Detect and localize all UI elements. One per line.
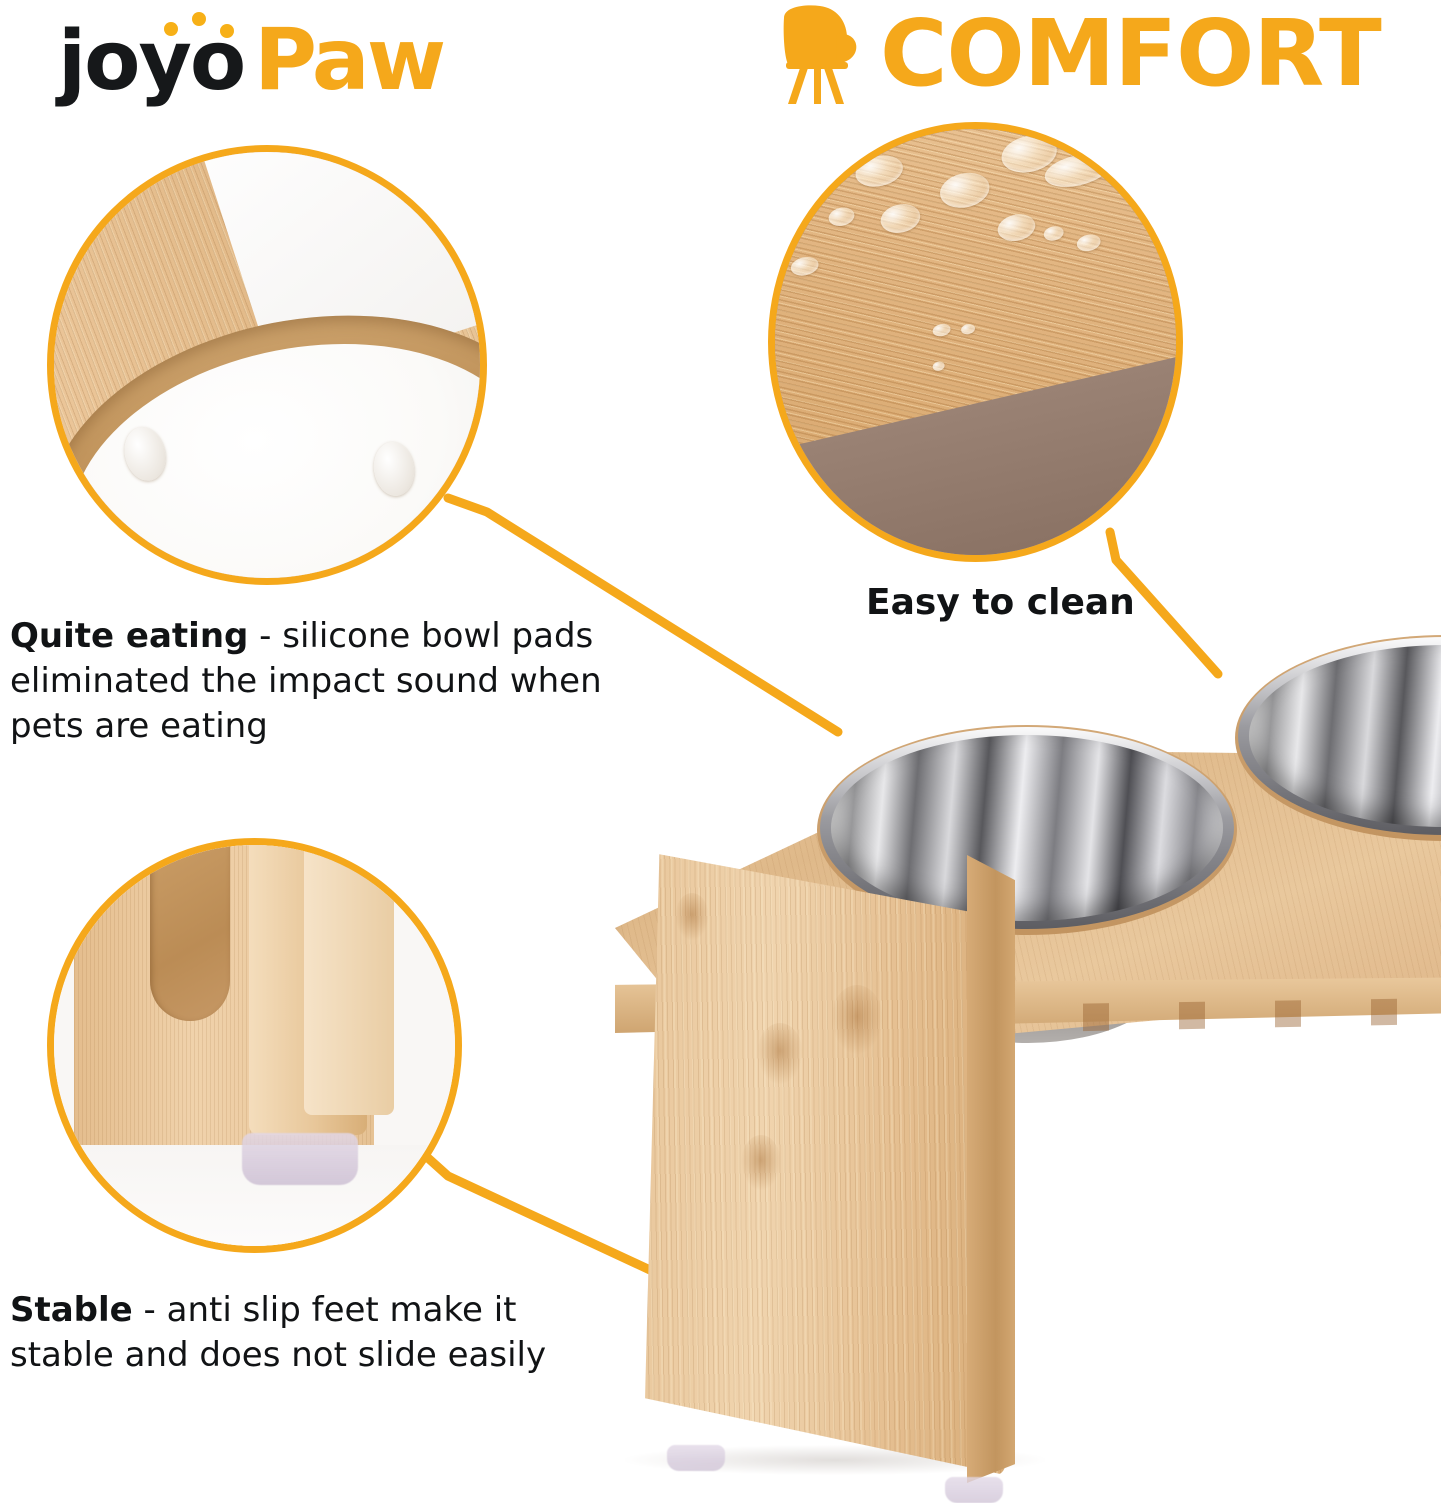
water-droplet-icon: [1151, 194, 1180, 217]
page-title: COMFORT: [880, 0, 1381, 108]
water-droplet-icon: [852, 151, 906, 191]
logo-text-joyo: joyo: [58, 14, 244, 109]
closeup-backdrop: [54, 845, 455, 1246]
callout-circle-quiet-eating: [47, 145, 487, 585]
bamboo-knot: [675, 893, 709, 941]
water-droplet-icon: [960, 323, 976, 336]
water-droplet-icon: [808, 179, 833, 200]
water-droplet-icon: [827, 205, 856, 228]
leg-notch-cutout: [150, 838, 230, 1021]
water-droplet-icon: [995, 211, 1038, 245]
anti-slip-foot-pad: [945, 1477, 1003, 1503]
closeup-backdrop: [775, 129, 1176, 555]
water-droplet-icon: [931, 322, 951, 338]
caption-stable: Stable - anti slip feet make it stable a…: [10, 1288, 630, 1378]
logo-text-paw: Paw: [254, 10, 443, 110]
callout-circle-easy-to-clean: [768, 122, 1183, 562]
caption-quiet-eating: Quite eating - silicone bowl pads elimin…: [10, 614, 610, 749]
water-droplet-icon: [1042, 224, 1065, 242]
water-droplet-icon: [1075, 232, 1102, 253]
brand-logo: joyo Paw: [58, 6, 428, 106]
callout-circle-anti-slip-foot: [47, 838, 462, 1253]
caption-stable-bold: Stable: [10, 1290, 133, 1330]
anti-slip-foot-pad: [667, 1445, 725, 1471]
water-droplet-icon: [932, 360, 946, 371]
bamboo-leg-panel: [645, 835, 1005, 1475]
bamboo-knot: [741, 1135, 781, 1191]
bamboo-knot: [757, 1023, 803, 1085]
water-droplet-icon: [937, 168, 993, 212]
armchair-icon: [774, 4, 870, 108]
header-title-group: COMFORT: [770, 0, 1370, 112]
bamboo-leg-edge: [967, 855, 1015, 1483]
water-droplet-icon: [878, 200, 923, 236]
stainless-steel-bowl: [831, 735, 1223, 921]
bamboo-leg-side: [304, 838, 394, 1115]
caption-quiet-eating-bold: Quite eating: [10, 616, 248, 656]
water-droplet-icon: [1113, 129, 1153, 168]
bamboo-backdrop: [54, 152, 480, 578]
bamboo-knot: [831, 985, 883, 1055]
anti-slip-foot-pad: [242, 1133, 358, 1185]
product-photo-elevated-pet-feeder: [615, 605, 1441, 1468]
water-droplet-icon: [789, 254, 820, 278]
header-bar: joyo Paw COMFORT: [0, 0, 1441, 118]
